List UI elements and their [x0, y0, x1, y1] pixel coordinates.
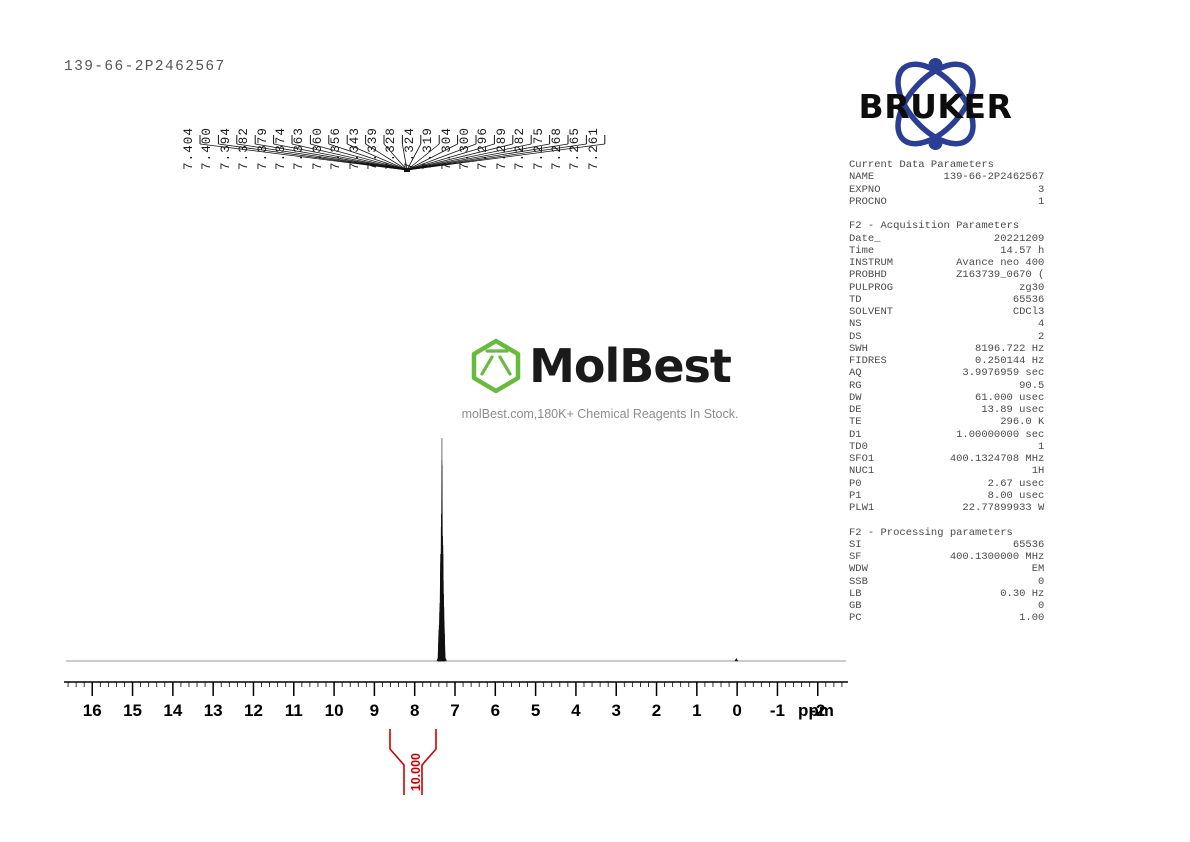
peak-apex-marker	[404, 168, 410, 172]
param-row: SF 400.1300000 MHz	[849, 551, 1064, 563]
axis-tick-label: 15	[123, 701, 142, 721]
param-row: TE 296.0 K	[849, 416, 1064, 428]
param-row: PROBHD Z163739_0670 (	[849, 269, 1064, 281]
bruker-logo: BRUKER	[848, 52, 1023, 157]
param-row: P0 2.67 usec	[849, 478, 1064, 490]
axis-tick-label: 3	[611, 701, 620, 721]
bruker-wordmark-text: BRUKER	[859, 87, 1013, 126]
param-row: RG 90.5	[849, 380, 1064, 392]
param-section-heading: F2 - Acquisition Parameters	[849, 220, 1019, 232]
param-row: TD 65536	[849, 294, 1064, 306]
param-row: P1 8.00 usec	[849, 490, 1064, 502]
axis-tick-label: 0	[732, 701, 741, 721]
axis-tick-label: 2	[652, 701, 661, 721]
hexagon-benzene-icon	[469, 338, 523, 394]
axis-tick-label: -2	[810, 701, 825, 721]
axis-tick-label: 16	[83, 701, 102, 721]
molbest-watermark: MolBest molBest.com,180K+ Chemical Reage…	[440, 338, 760, 421]
peak-leader-line	[310, 135, 407, 170]
watermark-tagline-text: molBest.com,180K+ Chemical Reagents In S…	[440, 407, 760, 421]
axis-tick-label: 1	[692, 701, 701, 721]
spectrum-peak	[735, 658, 738, 661]
param-row: Time 14.57 h	[849, 245, 1064, 257]
peak-leader-line	[407, 135, 513, 170]
integral-value-label: 10.000	[409, 753, 423, 791]
param-row: SSB 0	[849, 576, 1064, 588]
page-title: 139-66-2P2462567	[64, 59, 226, 75]
param-row: EXPNO 3	[849, 184, 1064, 196]
axis-tick-label: 11	[285, 701, 303, 721]
nmr-spectrum-page: 139-66-2P2462567 7.4047.4007.3947.3827.3…	[0, 0, 1190, 842]
axis-tick-label: 9	[370, 701, 379, 721]
axis-tick-label: 5	[531, 701, 540, 721]
param-row: NUC1 1H	[849, 465, 1064, 477]
param-section-heading: F2 - Processing parameters	[849, 527, 1013, 539]
spectrum-trace	[60, 430, 850, 665]
axis-tick-label: 8	[410, 701, 419, 721]
axis-tick-label: 4	[571, 701, 580, 721]
axis-tick-label: -1	[770, 701, 785, 721]
param-row: TD0 1	[849, 441, 1064, 453]
integral-region: 10.000	[378, 727, 448, 797]
param-row: DS 2	[849, 331, 1064, 343]
param-spacer	[849, 514, 1064, 526]
param-section-heading: Current Data Parameters	[849, 159, 994, 171]
param-row: SI 65536	[849, 539, 1064, 551]
param-row: GB 0	[849, 600, 1064, 612]
peak-leader-line	[292, 135, 407, 170]
watermark-logo-row: MolBest	[440, 338, 760, 394]
param-row: NAME 139-66-2P2462567	[849, 171, 1064, 183]
param-row: AQ 3.9976959 sec	[849, 367, 1064, 379]
axis-tick-label: 7	[450, 701, 459, 721]
peak-leader-lines	[190, 134, 630, 172]
axis-tick-label: 14	[163, 701, 182, 721]
param-row: NS 4	[849, 318, 1064, 330]
param-row: DE 13.89 usec	[849, 404, 1064, 416]
param-row: PULPROG zg30	[849, 282, 1064, 294]
param-row: FIDRES 0.250144 Hz	[849, 355, 1064, 367]
peak-leader-line	[402, 135, 407, 170]
acquisition-parameters-panel: Current Data Parameters NAME 139-66-2P24…	[849, 159, 1064, 625]
param-row: PC 1.00	[849, 612, 1064, 624]
axis-tick-label: 12	[244, 701, 263, 721]
param-row: INSTRUM Avance neo 400	[849, 257, 1064, 269]
axis-tick-label: 13	[204, 701, 223, 721]
param-row: SFO1 400.1324708 MHz	[849, 453, 1064, 465]
param-row: PLW1 22.77899933 W	[849, 502, 1064, 514]
param-row: WDW EM	[849, 563, 1064, 575]
param-row: SOLVENT CDCl3	[849, 306, 1064, 318]
param-row: LB 0.30 Hz	[849, 588, 1064, 600]
watermark-wordmark-text: MolBest	[529, 343, 731, 389]
param-spacer	[849, 208, 1064, 220]
axis-tick-label: 10	[325, 701, 344, 721]
param-row: Date_ 20221209	[849, 233, 1064, 245]
axis-tick-label: 6	[491, 701, 500, 721]
param-row: DW 61.000 usec	[849, 392, 1064, 404]
axis-ruler-ticks	[60, 681, 850, 703]
param-row: SWH 8196.722 Hz	[849, 343, 1064, 355]
param-row: D1 1.00000000 sec	[849, 429, 1064, 441]
param-row: PROCNO 1	[849, 196, 1064, 208]
x-axis: ppm 161514131211109876543210-1-2	[60, 681, 850, 727]
